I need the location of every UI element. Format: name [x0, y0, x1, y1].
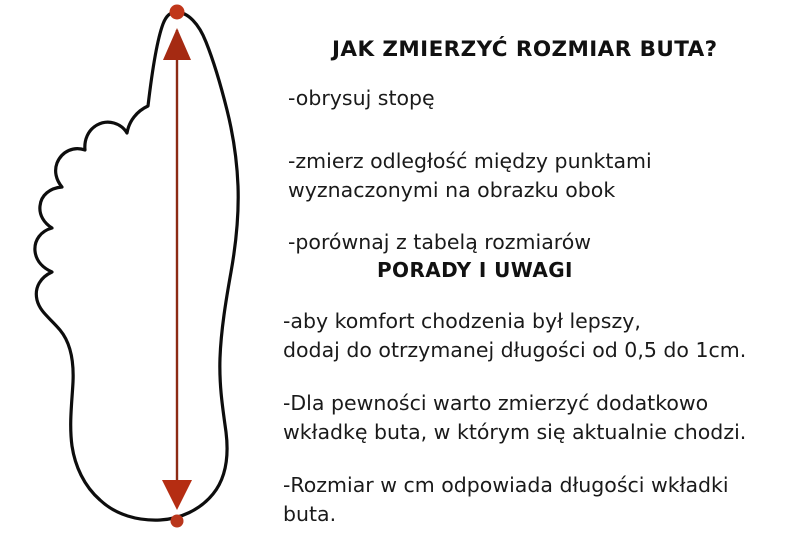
tips-heading: PORADY I UWAGI	[377, 258, 573, 282]
step-item: -porównaj z tabelą rozmiarów	[288, 228, 591, 257]
tip-item: -Rozmiar w cm odpowiada długości wkładki…	[283, 471, 729, 529]
step-item: -obrysuj stopę	[288, 84, 435, 113]
marker-top-toe	[170, 5, 185, 20]
page-title: JAK ZMIERZYĆ ROZMIAR BUTA?	[332, 37, 718, 62]
marker-bottom-heel	[171, 515, 184, 528]
foot-outline-path	[35, 12, 238, 520]
tip-item: -aby komfort chodzenia był lepszy, dodaj…	[283, 307, 746, 365]
shoe-size-infographic: JAK ZMIERZYĆ ROZMIAR BUTA? -obrysuj stop…	[0, 0, 804, 537]
tip-item: -Dla pewności warto zmierzyć dodatkowo w…	[283, 389, 746, 447]
step-item: -zmierz odległość między punktami wyznac…	[288, 147, 652, 205]
foot-illustration	[0, 0, 280, 537]
instructions-column: JAK ZMIERZYĆ ROZMIAR BUTA? -obrysuj stop…	[270, 0, 804, 537]
